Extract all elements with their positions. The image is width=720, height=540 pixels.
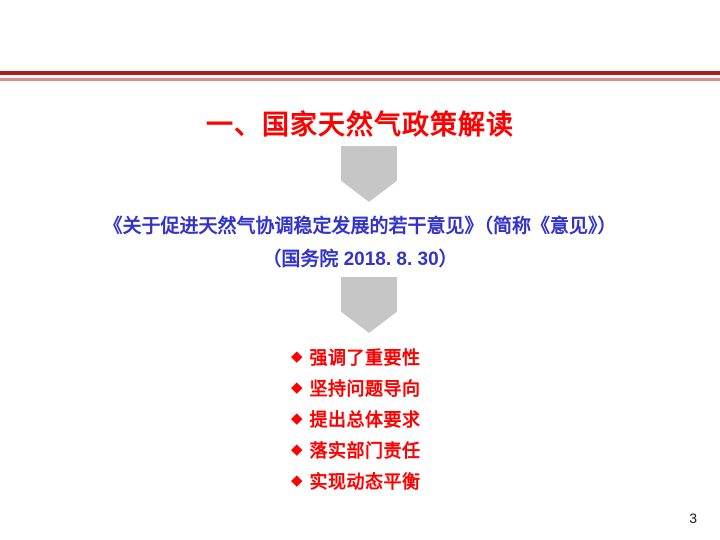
list-item-label: 提出总体要求 [310,406,421,432]
subtitle-block: 《关于促进天然气协调稳定发展的若干意见》（简称《意见》） （国务院 2018. … [0,210,720,276]
diamond-bullet-icon: ◆ [291,473,303,488]
page-number: 3 [689,510,697,526]
presentation-slide: 一、国家天然气政策解读 《关于促进天然气协调稳定发展的若干意见》（简称《意见》）… [0,0,720,540]
list-item: ◆ 提出总体要求 [0,403,720,434]
list-item: ◆ 落实部门责任 [0,434,720,465]
subtitle-line-2: （国务院 2018. 8. 30） [0,243,720,276]
list-item-label: 落实部门责任 [310,437,421,463]
down-arrow-icon-2 [341,277,397,333]
down-arrow-icon-1 [341,146,397,202]
list-item-label: 实现动态平衡 [310,468,421,494]
list-item-label: 坚持问题导向 [310,375,421,401]
diamond-bullet-icon: ◆ [291,442,303,457]
subtitle-line-1: 《关于促进天然气协调稳定发展的若干意见》（简称《意见》） [0,210,720,243]
header-rule-thin [0,78,720,81]
diamond-bullet-icon: ◆ [291,411,303,426]
diamond-bullet-icon: ◆ [291,380,303,395]
bullet-list: ◆ 强调了重要性 ◆ 坚持问题导向 ◆ 提出总体要求 ◆ 落实部门责任 ◆ 实现… [0,341,720,496]
list-item: ◆ 实现动态平衡 [0,465,720,496]
list-item: ◆ 坚持问题导向 [0,372,720,403]
slide-title: 一、国家天然气政策解读 [0,103,720,142]
diamond-bullet-icon: ◆ [291,349,303,364]
list-item-label: 强调了重要性 [310,344,421,370]
list-item: ◆ 强调了重要性 [0,341,720,372]
header-rule-thick [0,71,720,75]
